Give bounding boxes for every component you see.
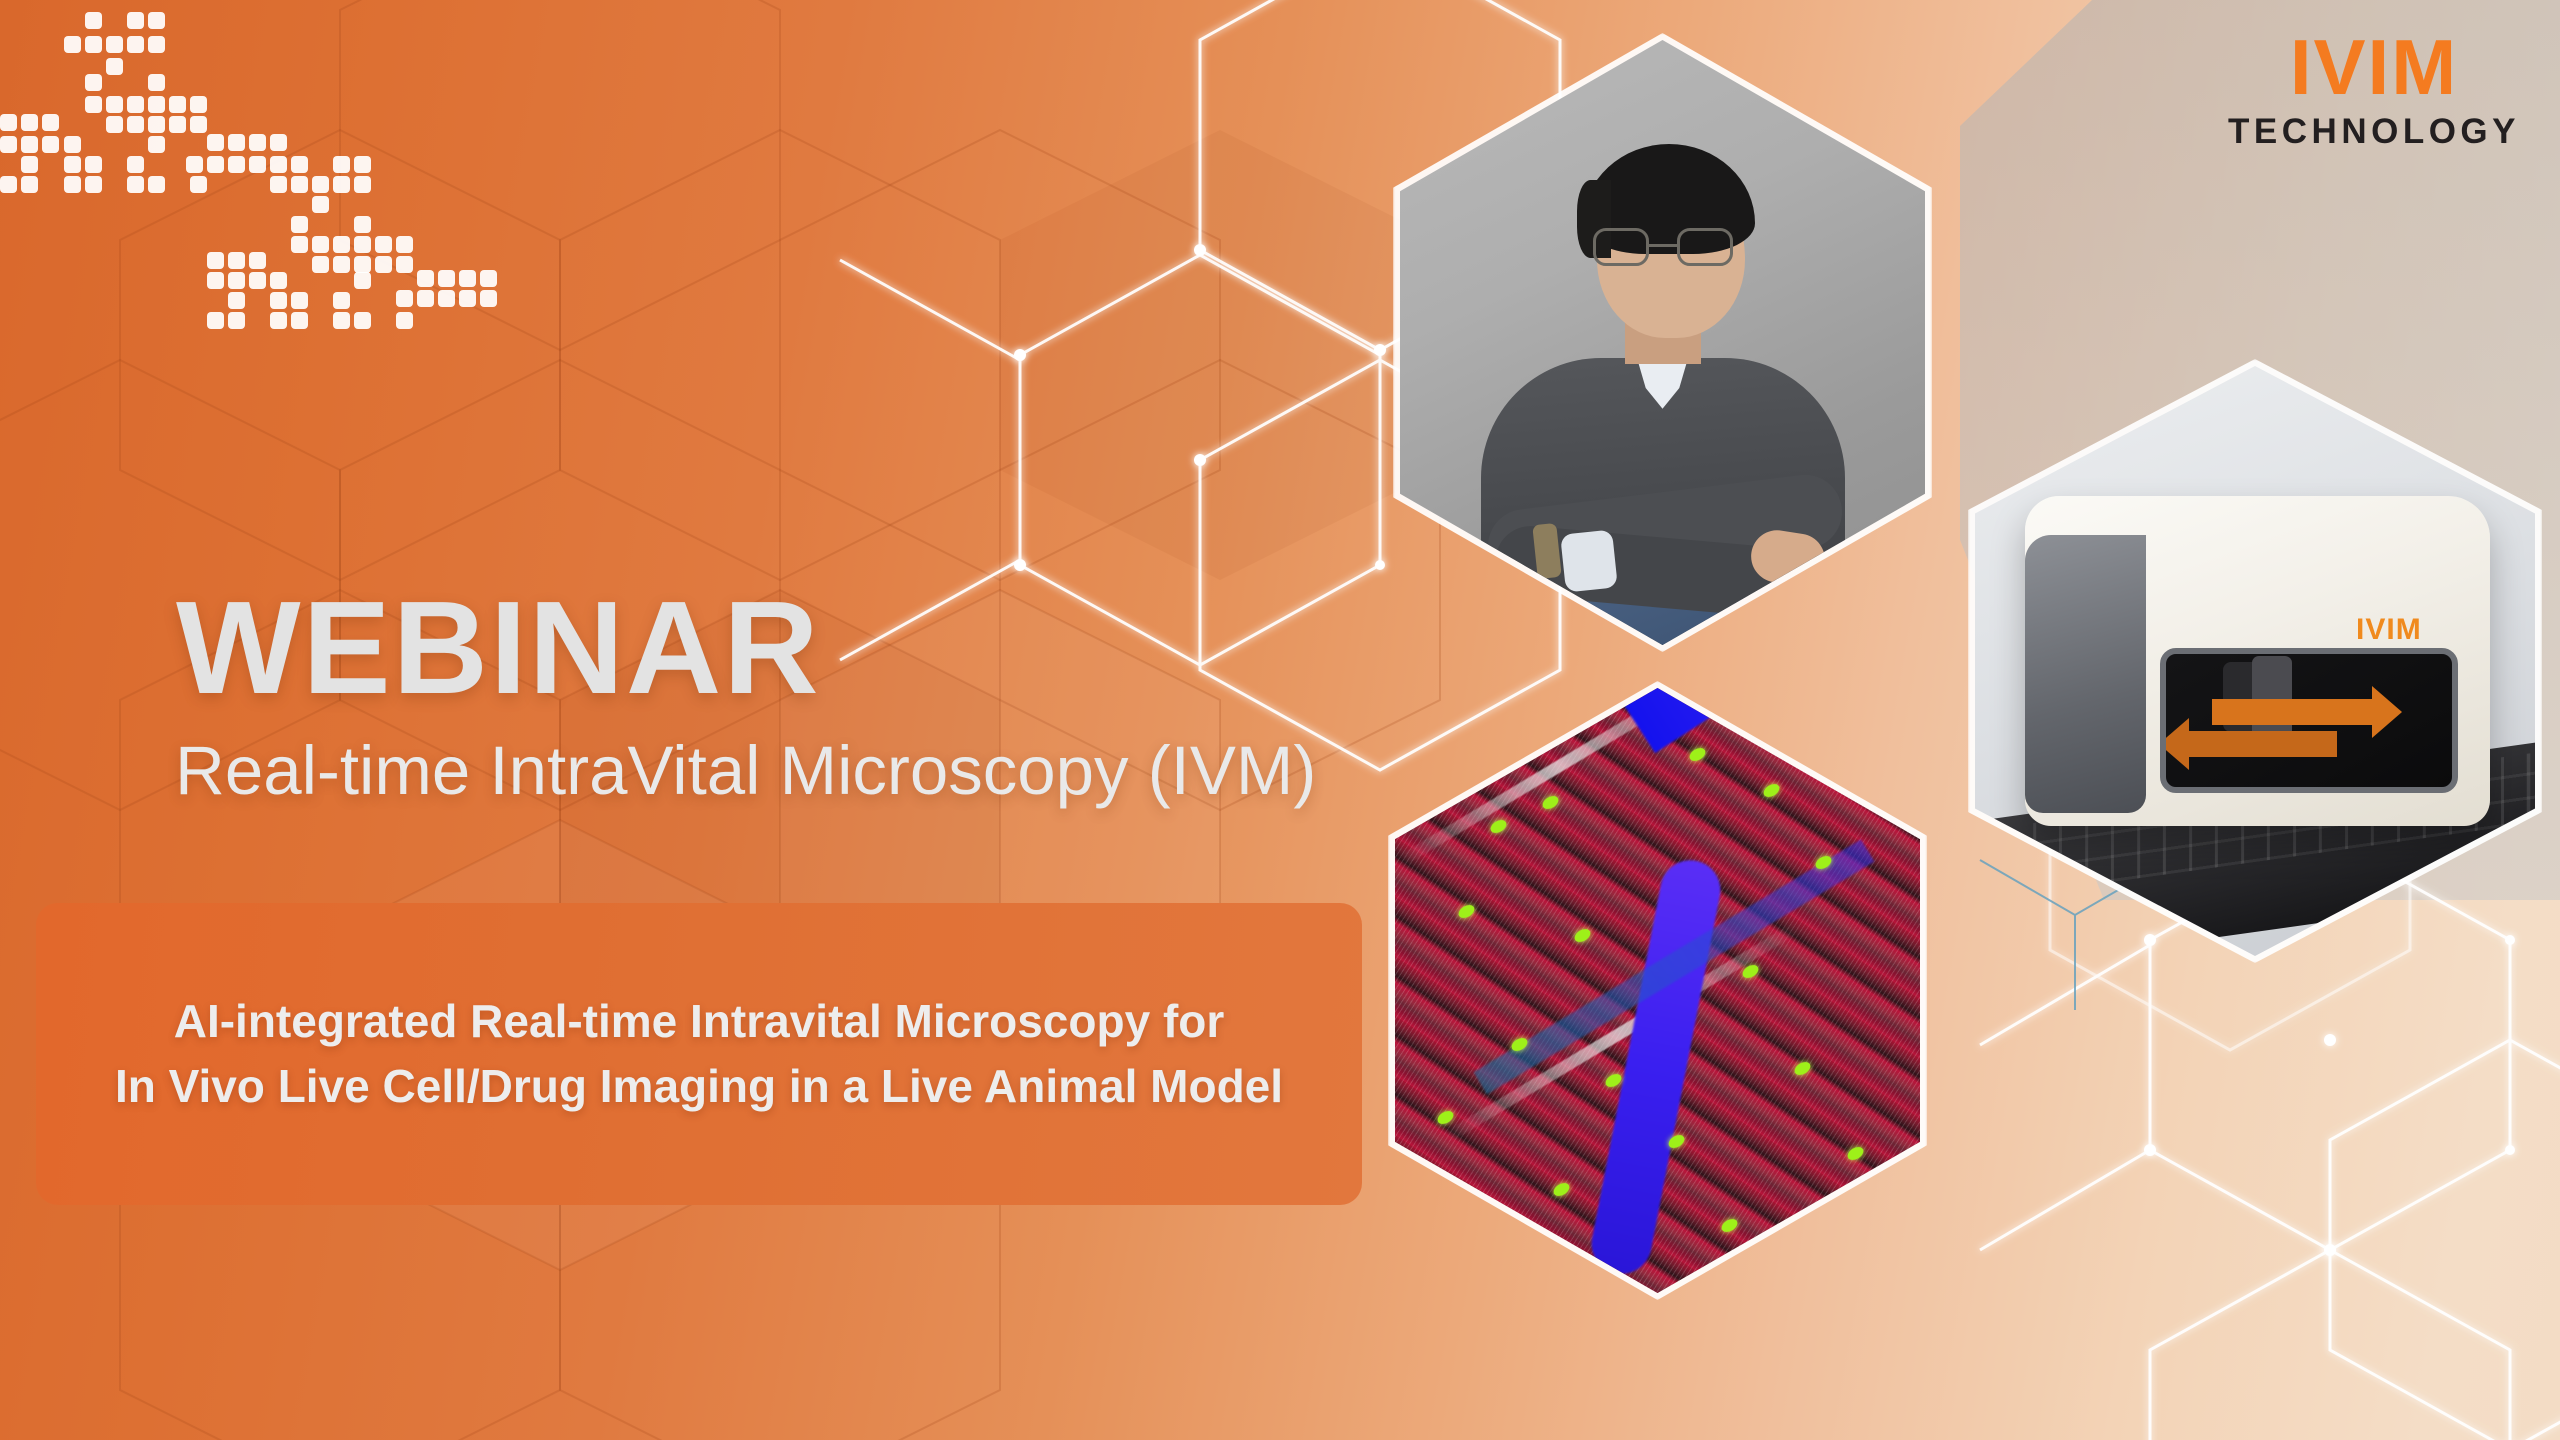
microscopy-hexagon-image: [1395, 688, 1920, 1293]
topic-text: AI-integrated Real-time Intravital Micro…: [71, 989, 1327, 1120]
wristwatch-icon: [1532, 523, 1562, 579]
page-title: WEBINAR: [176, 582, 1316, 714]
instrument-side-panel: [2025, 535, 2146, 813]
ivim-logo: IVIM TECHNOLOGY: [2228, 28, 2520, 149]
speaker-chair: [1773, 580, 1883, 645]
webinar-banner: IVIM TECHNOLOGY WEBINAR Real-time IntraV…: [0, 0, 2560, 1440]
page-subtitle: Real-time IntraVital Microscopy (IVM): [175, 736, 1316, 805]
topic-line-1: AI-integrated Real-time Intravital Micro…: [174, 995, 1225, 1047]
instrument-logo-primary: IVIM: [2334, 615, 2444, 645]
logo-primary-text: IVIM: [2228, 28, 2520, 106]
instrument-chamber-window: [2160, 648, 2457, 793]
headline-block: WEBINAR Real-time IntraVital Microscopy …: [176, 582, 1316, 805]
eyeglasses-icon: [1593, 228, 1733, 268]
pixel-dot-pattern: [0, 0, 520, 330]
instrument-housing: IVIM TECHNOLOGY: [2025, 496, 2490, 826]
motion-arrow-right: [2212, 699, 2372, 725]
topic-banner: AI-integrated Real-time Intravital Micro…: [36, 903, 1362, 1205]
speaker-hexagon-photo: [1400, 40, 1925, 645]
microscopy-canvas: [1395, 688, 1920, 1293]
topic-line-2: In Vivo Live Cell/Drug Imaging in a Live…: [115, 1060, 1283, 1112]
logo-secondary-text: TECHNOLOGY: [2228, 114, 2520, 149]
speaker-shirt-cuff: [1560, 529, 1618, 592]
motion-arrow-left: [2189, 731, 2337, 757]
